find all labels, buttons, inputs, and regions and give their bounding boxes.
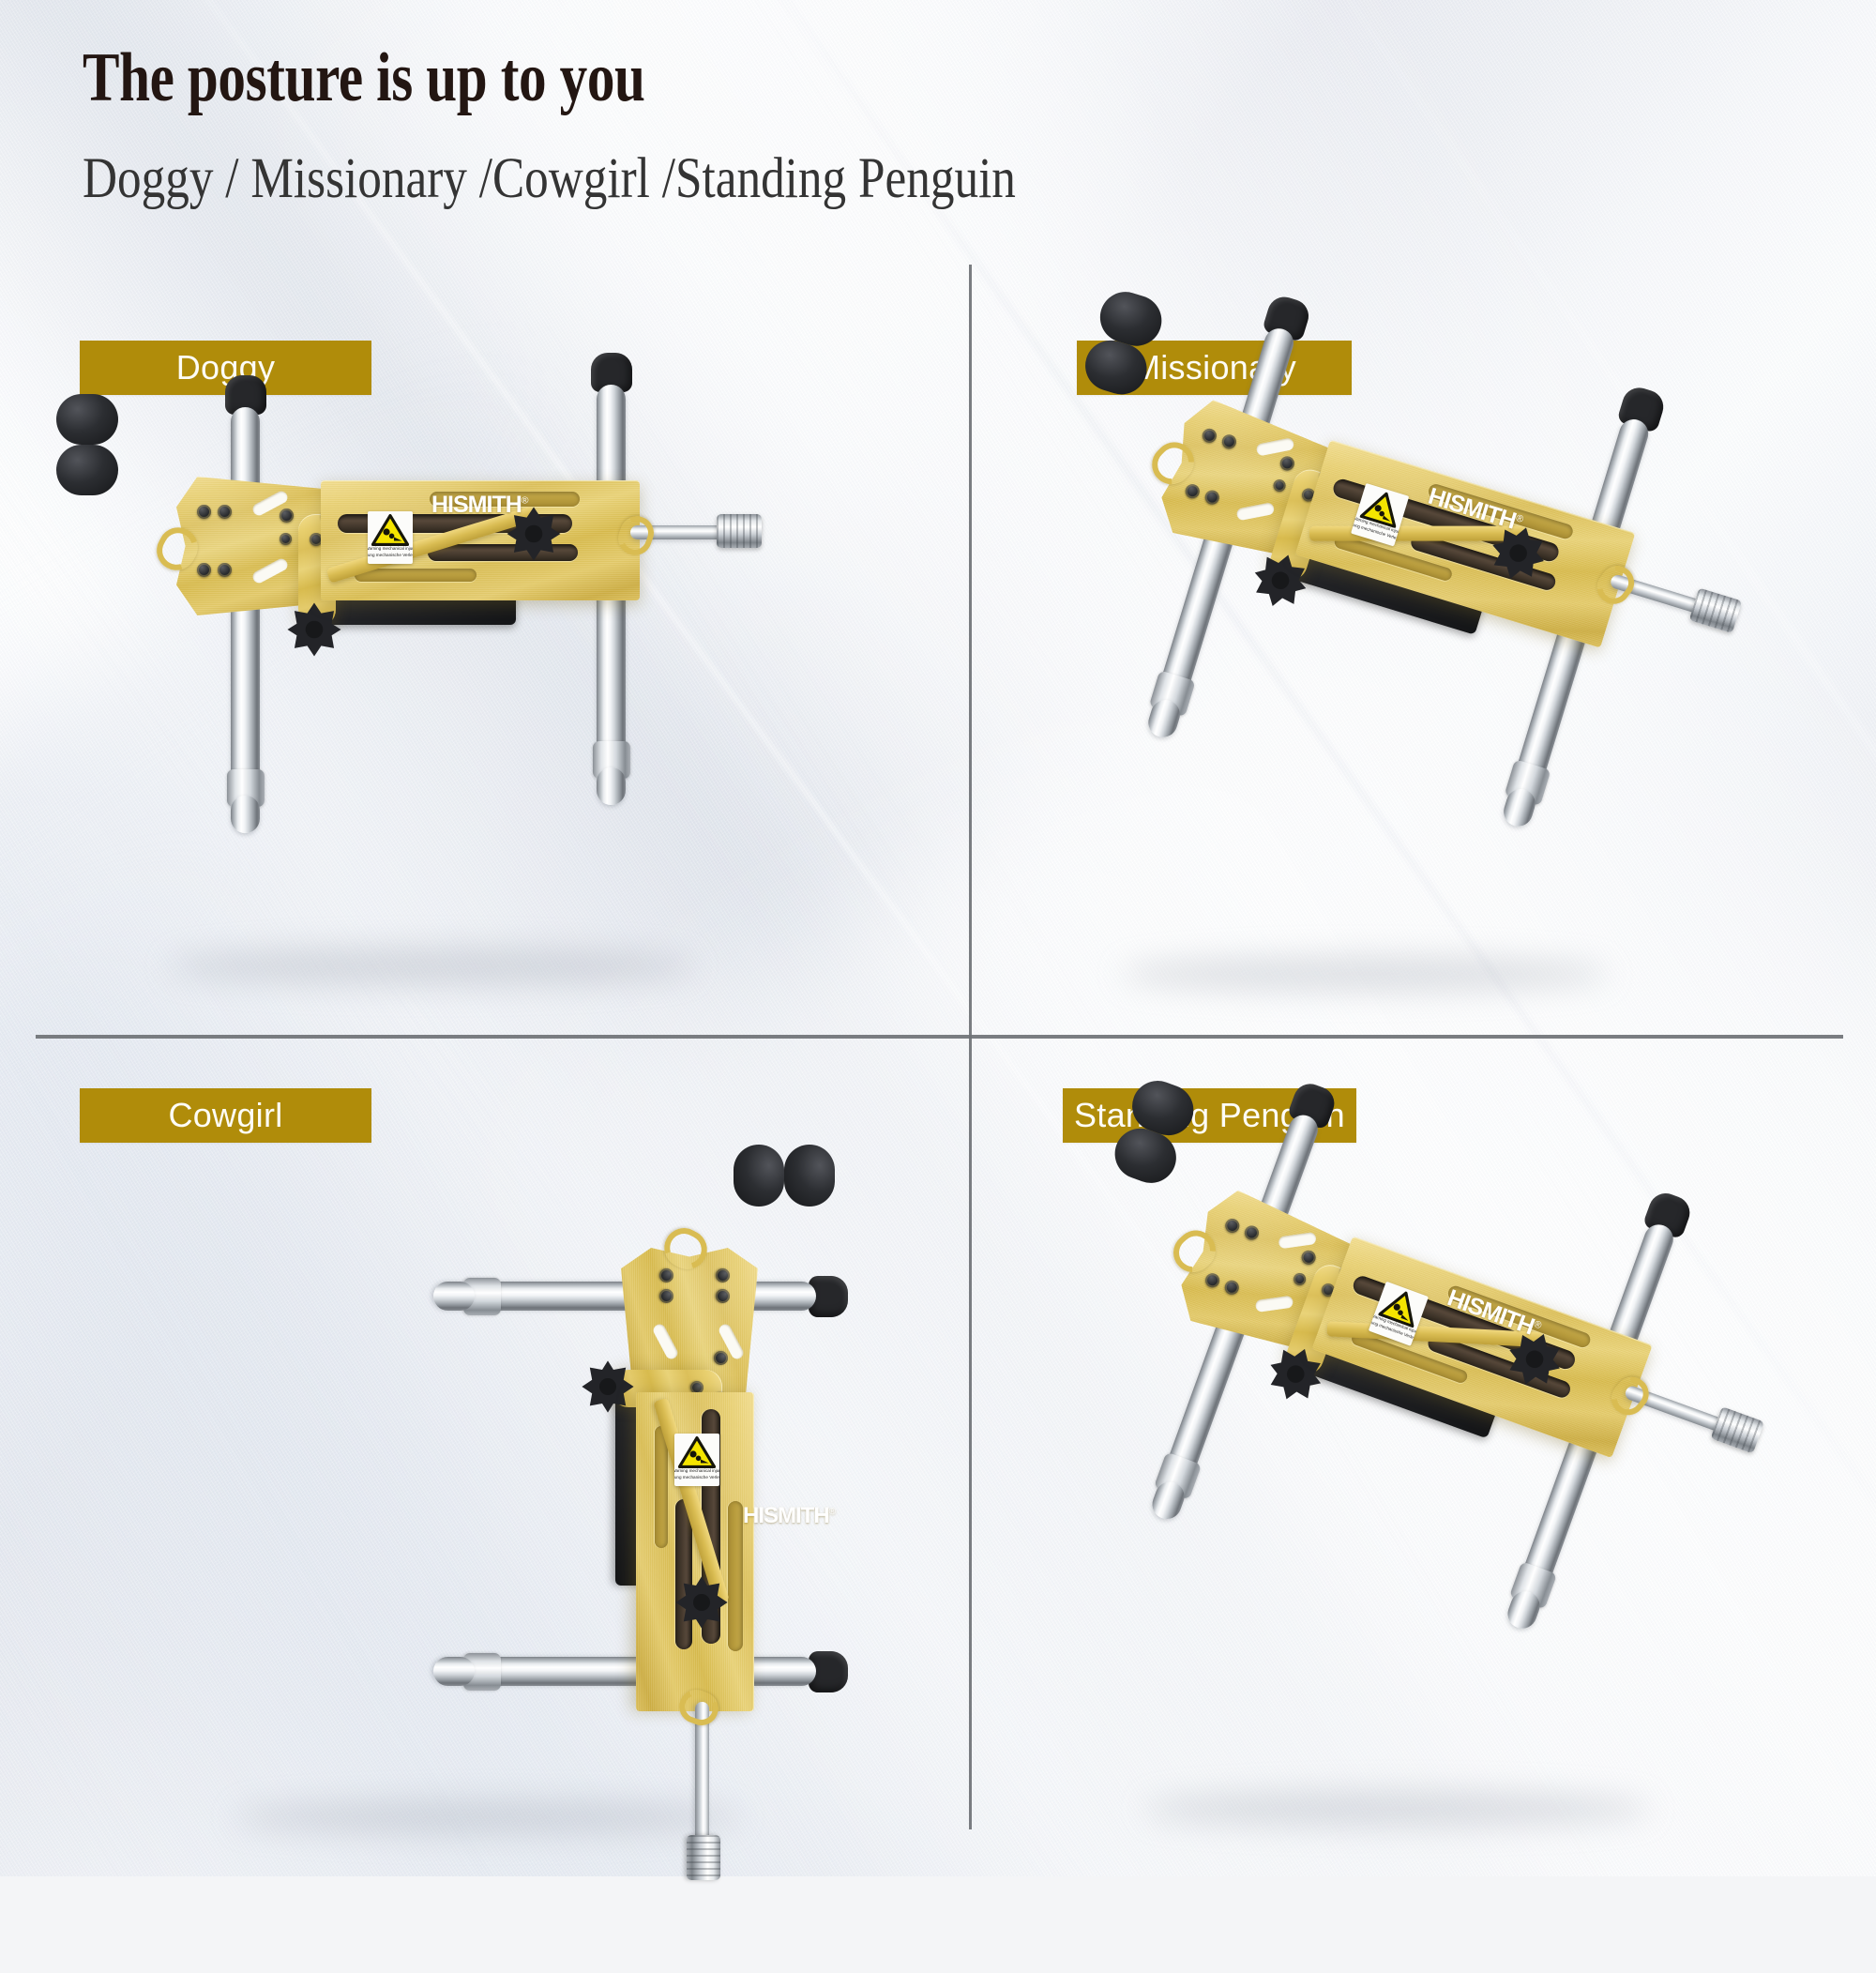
brand-wordmark: HISMITH® [743, 1503, 835, 1529]
bolt [280, 533, 292, 545]
warning-text-en: Warning mechanical injury [368, 546, 413, 552]
warning-text-en: Warning mechanical injury [674, 1468, 719, 1474]
bolt [218, 563, 232, 577]
foot-cap-right [734, 1145, 784, 1207]
foot-cap-left [56, 394, 118, 445]
hismith-machine-standing-penguin: Warning mechanical injury Warnung mechan… [918, 1073, 1876, 1973]
locking-knob-upper[interactable] [673, 1574, 730, 1631]
rail-slot [355, 569, 477, 582]
product-photo-cowgirl: Warning mechanical injury Warnung mechan… [131, 1154, 844, 1848]
bolt [716, 1289, 730, 1303]
bolt [197, 505, 211, 519]
hismith-machine-cowgirl: Warning mechanical injury Warnung mechan… [141, 1145, 835, 1858]
warning-text-de: Warnung mechanische Verletzung [368, 553, 413, 558]
locking-knob-lower[interactable] [580, 1358, 636, 1415]
locking-knob-lower[interactable] [285, 600, 343, 659]
quick-connect-coupler [687, 1835, 720, 1880]
warning-text-de: Warnung mechanische Verletzung [674, 1475, 719, 1480]
gear-pinch-hazard-icon [678, 1436, 716, 1468]
page-subtitle: Doggy / Missionary /Cowgirl /Standing Pe… [83, 150, 1264, 207]
rail-slot [728, 1501, 743, 1651]
gear-pinch-hazard-icon [371, 514, 409, 546]
quick-connect-coupler [717, 514, 762, 548]
warning-sticker: Warning mechanical injury Warnung mechan… [368, 511, 413, 564]
product-photo-doggy: Warning mechanical injury Warnung mechan… [56, 394, 957, 1013]
warning-sticker: Warning mechanical injury Warnung mechan… [674, 1434, 719, 1486]
bolt [197, 563, 211, 577]
foot-cap-right [56, 445, 118, 495]
bolt [218, 505, 232, 519]
badge-cowgirl-label: Cowgirl [168, 1096, 282, 1135]
bolt [659, 1268, 673, 1282]
foot-cap-left [784, 1145, 835, 1207]
header: The posture is up to you Doggy / Mission… [83, 43, 1490, 207]
bolt [716, 1268, 730, 1282]
leg-lower-left [231, 796, 260, 833]
badge-cowgirl: Cowgirl [80, 1088, 371, 1143]
bolt [280, 508, 294, 523]
quick-connect-coupler [1711, 1406, 1764, 1453]
leg-lower-left [433, 1282, 475, 1311]
leg-lower-right [597, 767, 626, 805]
leg-lower-right [433, 1657, 475, 1686]
page-title: The posture is up to you [83, 43, 1208, 113]
bolt [714, 1351, 728, 1365]
product-photo-missionary: Warning mechanical injury Warnung mechan… [1008, 394, 1853, 1013]
hismith-machine-missionary: Warning mechanical injury Warnung mechan… [928, 285, 1876, 1124]
quick-connect-coupler [1689, 588, 1742, 633]
locking-knob-upper[interactable] [505, 505, 563, 563]
product-photo-standing-penguin: Warning mechanical injury Warnung mechan… [1022, 1191, 1848, 1848]
hismith-machine-doggy: Warning mechanical injury Warnung mechan… [56, 394, 957, 1013]
bolt [659, 1289, 673, 1303]
